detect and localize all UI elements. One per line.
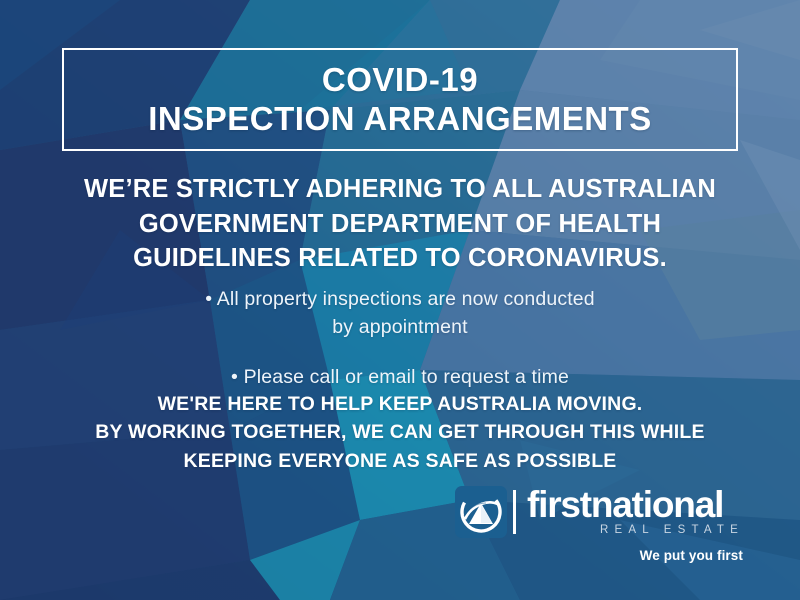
closing-line-3: KEEPING EVERYONE AS SAFE AS POSSIBLE — [0, 447, 800, 475]
headline-block: WE’RE STRICTLY ADHERING TO ALL AUSTRALIA… — [0, 172, 800, 276]
title-line-1: COVID-19 — [148, 61, 651, 99]
bullet-marker: • — [231, 366, 238, 388]
closing-line-1: WE'RE HERE TO HELP KEEP AUSTRALIA MOVING… — [0, 390, 800, 418]
bullet-list: • All property inspections are now condu… — [0, 286, 800, 392]
logo-name-first: first — [527, 484, 591, 525]
first-national-logo: firstnational REAL ESTATE We put you fir… — [455, 483, 745, 563]
headline-line-3: GUIDELINES RELATED TO CORONAVIRUS. — [0, 241, 800, 276]
closing-statement: WE'RE HERE TO HELP KEEP AUSTRALIA MOVING… — [0, 390, 800, 475]
logo-divider — [513, 490, 516, 534]
logo-name: firstnational — [527, 487, 745, 523]
bullet-item: • All property inspections are now condu… — [0, 286, 800, 341]
headline-line-1: WE’RE STRICTLY ADHERING TO ALL AUSTRALIA… — [0, 172, 800, 207]
bullet-item: • Please call or email to request a time — [0, 364, 800, 392]
logo-name-national: national — [591, 484, 723, 525]
title-box: COVID-19 INSPECTION ARRANGEMENTS — [62, 48, 738, 151]
first-national-swoosh-triangle-icon — [455, 486, 507, 538]
bullet-text: Please call or email to request a time — [244, 366, 569, 388]
poster-content: COVID-19 INSPECTION ARRANGEMENTS WE’RE S… — [0, 0, 800, 600]
closing-line-2: BY WORKING TOGETHER, WE CAN GET THROUGH … — [0, 418, 800, 446]
covid-inspection-poster: COVID-19 INSPECTION ARRANGEMENTS WE’RE S… — [0, 0, 800, 600]
bullet-marker: • — [205, 288, 212, 310]
logo-tagline: We put you first — [455, 548, 745, 563]
headline-line-2: GOVERNMENT DEPARTMENT OF HEALTH — [0, 207, 800, 242]
bullet-text: All property inspections are now conduct… — [217, 288, 595, 310]
logo-row: firstnational REAL ESTATE — [455, 483, 745, 540]
bullet-text-continued: by appointment — [0, 314, 800, 342]
title-line-2: INSPECTION ARRANGEMENTS — [148, 100, 651, 138]
page-title: COVID-19 INSPECTION ARRANGEMENTS — [148, 61, 651, 138]
logo-wordmark: firstnational REAL ESTATE — [527, 487, 745, 536]
logo-subtitle: REAL ESTATE — [527, 524, 745, 536]
